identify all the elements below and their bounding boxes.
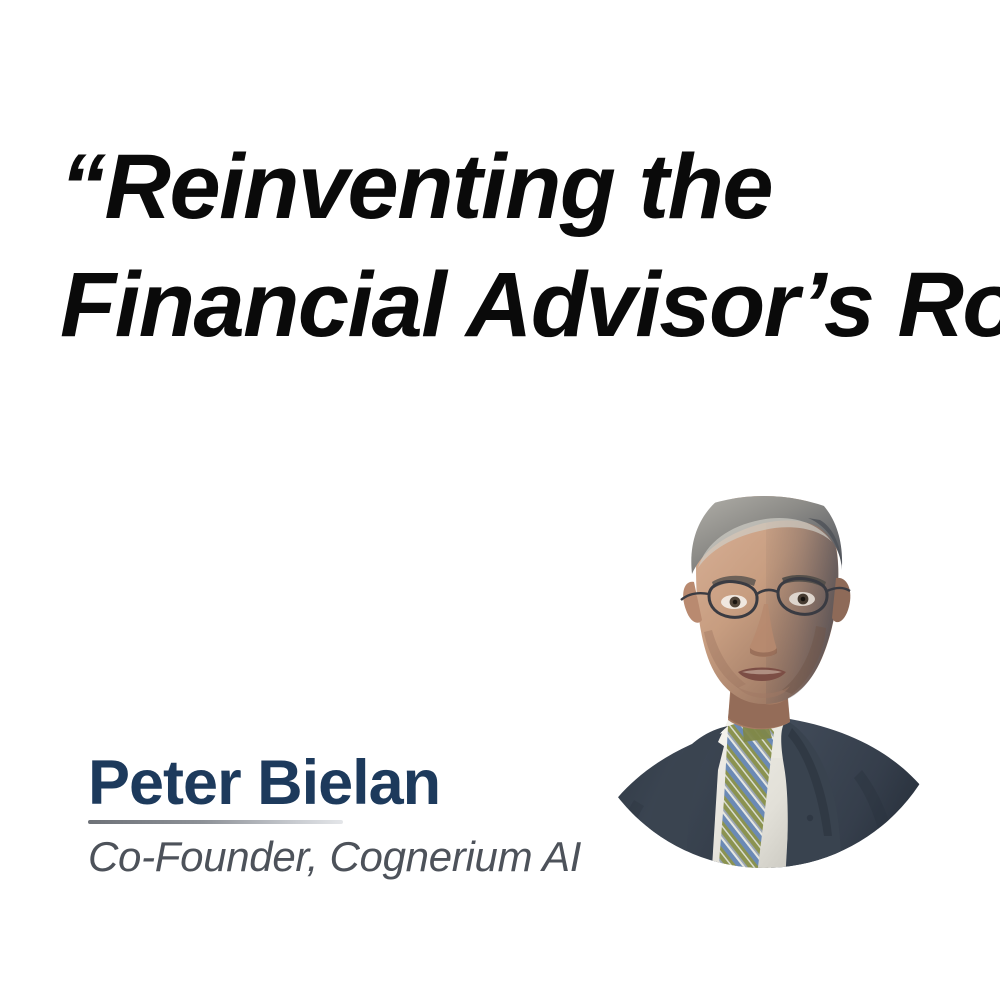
speaker-divider-rule	[88, 820, 343, 824]
presentation-slide: “Reinventing the Financial Advisor’s Rol…	[0, 0, 1000, 1000]
lapel-buttonhole	[807, 815, 813, 821]
eye-left-pupil	[733, 600, 738, 605]
speaker-block: Peter Bielan Co-Founder, Cognerium AI	[88, 748, 608, 881]
suit-fold-left	[606, 800, 644, 894]
speaker-name: Peter Bielan	[88, 748, 608, 818]
portrait-circle-mask	[578, 470, 950, 900]
speaker-role: Co-Founder, Cognerium AI	[88, 833, 608, 881]
quote-line-2: Financial Advisor’s Role”	[60, 246, 950, 364]
quote-line-1: “Reinventing the	[60, 128, 950, 246]
portrait-illustration	[578, 470, 950, 900]
speaker-portrait	[578, 470, 950, 900]
quote-title: “Reinventing the Financial Advisor’s Rol…	[60, 128, 950, 364]
eye-right-pupil	[801, 597, 806, 602]
